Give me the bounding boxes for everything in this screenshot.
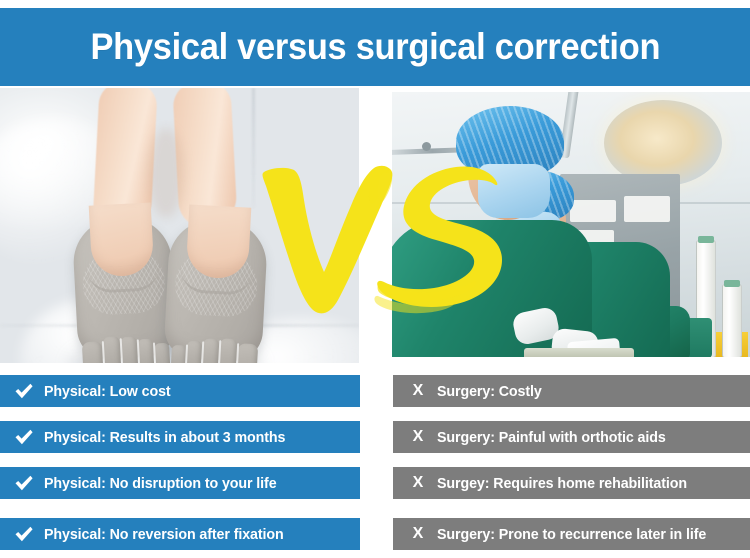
list-item[interactable]: X Surgey: Requires home rehabilitation [393, 467, 750, 499]
list-item[interactable]: Physical: No disruption to your life [0, 467, 360, 499]
photo-surgical-correction [392, 92, 750, 357]
instrument-tray [524, 348, 634, 357]
cabinet-shelf-item [624, 196, 670, 222]
check-icon [14, 429, 36, 445]
list-item[interactable]: X Surgery: Painful with orthotic aids [393, 421, 750, 453]
list-item-label: Physical: Low cost [44, 383, 171, 400]
pole-cap [698, 236, 714, 243]
infographic-canvas: Physical versus surgical correction [0, 0, 750, 558]
x-icon: X [407, 429, 429, 445]
list-item[interactable]: Physical: Low cost [0, 375, 360, 407]
quilt-seam [252, 88, 255, 208]
list-item-label: Surgery: Costly [437, 383, 542, 400]
list-item-label: Physical: No disruption to your life [44, 475, 277, 492]
list-item[interactable]: Physical: No reversion after fixation [0, 518, 360, 550]
x-icon: X [407, 383, 429, 399]
list-item-label: Physical: Results in about 3 months [44, 429, 285, 446]
x-icon: X [407, 475, 429, 491]
check-icon [14, 475, 36, 491]
list-item-label: Surgery: Prone to recurrence later in li… [437, 526, 706, 543]
list-item-label: Physical: No reversion after fixation [44, 526, 284, 543]
header-banner: Physical versus surgical correction [0, 8, 750, 86]
list-item[interactable]: X Surgery: Prone to recurrence later in … [393, 518, 750, 550]
sock-toes [80, 331, 177, 363]
rail-knob [422, 142, 431, 151]
x-icon: X [407, 526, 429, 542]
photo-physical-correction [0, 88, 359, 363]
list-item[interactable]: Physical: Results in about 3 months [0, 421, 360, 453]
list-item-label: Surgery: Painful with orthotic aids [437, 429, 666, 446]
foot-left [70, 194, 177, 363]
list-item-label: Surgey: Requires home rehabilitation [437, 475, 687, 492]
equipment-pole [722, 284, 742, 357]
list-item[interactable]: X Surgery: Costly [393, 375, 750, 407]
cabinet-shelf-item [570, 200, 616, 222]
surgical-mask [478, 164, 550, 218]
pole-cap [724, 280, 740, 287]
check-icon [14, 526, 36, 542]
page-title: Physical versus surgical correction [90, 26, 660, 68]
foot-right [162, 196, 269, 363]
sock-toes [164, 333, 261, 363]
check-icon [14, 383, 36, 399]
